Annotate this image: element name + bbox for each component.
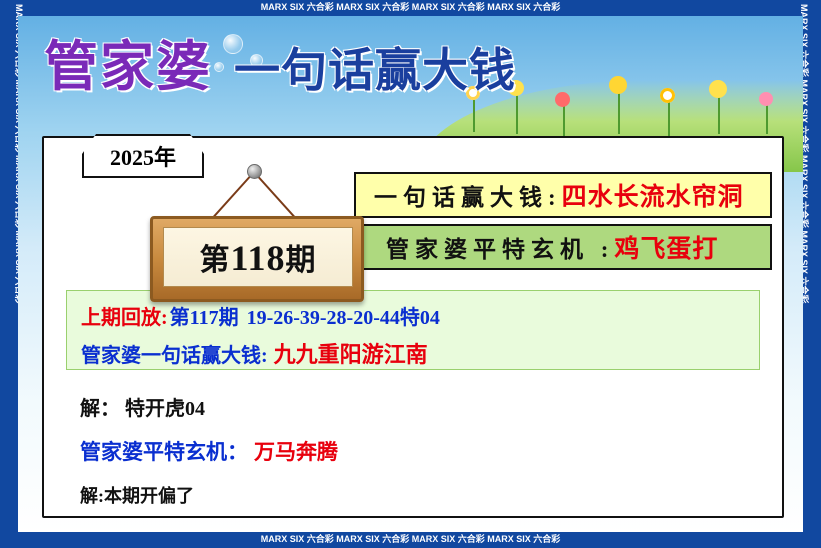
hanging-sign: 第118期 xyxy=(128,164,378,304)
explanation-2-label: 管家婆平特玄机： xyxy=(80,440,248,464)
issue-text: 第118期 xyxy=(199,235,316,279)
flower-icon xyxy=(660,88,675,103)
sign-board: 第118期 xyxy=(150,216,364,302)
explanation-row-1: 解： 特开虎04 xyxy=(80,392,205,421)
highlight-box-phrase: 一句话赢大钱: 四水长流水帘洞 xyxy=(354,172,772,218)
border-strip-top: MARX SIX 六合彩 MARX SIX 六合彩 MARX SIX 六合彩 M… xyxy=(0,0,821,16)
slogan-title: 一句话赢大钱 xyxy=(234,48,516,94)
recall-numbers: 19-26-39-28-20-44特04 xyxy=(247,301,440,330)
previous-result-box: 上期回放: 第117期 19-26-39-28-20-44特04 管家婆一句话赢… xyxy=(66,290,760,370)
flower-icon xyxy=(759,92,773,106)
recall-issue: 第117期 xyxy=(170,301,239,330)
flower-icon xyxy=(709,80,727,98)
explanation-row-2: 管家婆平特玄机：万马奔腾 xyxy=(80,436,338,466)
brand-title: 管家婆 xyxy=(44,40,212,94)
highlight-label-xuanji: 管家婆平特玄机 : xyxy=(386,230,614,264)
poster-content: 管家婆 一句话赢大钱 2025年 第118期 xyxy=(18,16,803,532)
previous-numbers-row: 上期回放: 第117期 19-26-39-28-20-44特04 xyxy=(81,301,440,330)
border-strip-bottom: MARX SIX 六合彩 MARX SIX 六合彩 MARX SIX 六合彩 M… xyxy=(0,532,821,548)
issue-prefix: 第 xyxy=(199,244,230,277)
highlight-box-xuanji: 管家婆平特玄机 : 鸡飞蛋打 xyxy=(354,224,772,270)
sign-inner: 第118期 xyxy=(163,227,353,287)
flower-icon xyxy=(555,92,570,107)
lottery-poster: MARX SIX 六合彩 MARX SIX 六合彩 MARX SIX 六合彩 M… xyxy=(0,0,821,548)
previous-phrase-label: 管家婆一句话赢大钱: xyxy=(81,339,268,368)
poster-header: 管家婆 一句话赢大钱 xyxy=(44,40,516,94)
highlight-value-xuanji: 鸡飞蛋打 xyxy=(614,229,718,265)
flower-stem xyxy=(516,90,518,134)
main-panel: 2025年 第118期 一句话赢大钱: 四水长流水帘洞 xyxy=(42,136,784,518)
issue-suffix: 期 xyxy=(286,244,317,277)
nail-icon xyxy=(247,164,262,179)
flower-icon xyxy=(609,76,627,94)
recall-label: 上期回放: xyxy=(81,301,168,330)
previous-phrase-row: 管家婆一句话赢大钱: 九九重阳游江南 xyxy=(81,337,428,369)
border-tile-text-top: MARX SIX 六合彩 MARX SIX 六合彩 MARX SIX 六合彩 M… xyxy=(261,2,561,12)
issue-number: 118 xyxy=(230,238,285,278)
highlight-value-phrase: 四水长流水帘洞 xyxy=(562,177,744,213)
explanation-2-value: 万马奔腾 xyxy=(254,440,338,464)
border-tile-text-bottom: MARX SIX 六合彩 MARX SIX 六合彩 MARX SIX 六合彩 M… xyxy=(261,534,561,544)
explanation-row-3: 解:本期开偏了 xyxy=(80,482,194,508)
previous-phrase-value: 九九重阳游江南 xyxy=(274,337,428,369)
highlight-label-phrase: 一句话赢大钱: xyxy=(374,178,562,212)
